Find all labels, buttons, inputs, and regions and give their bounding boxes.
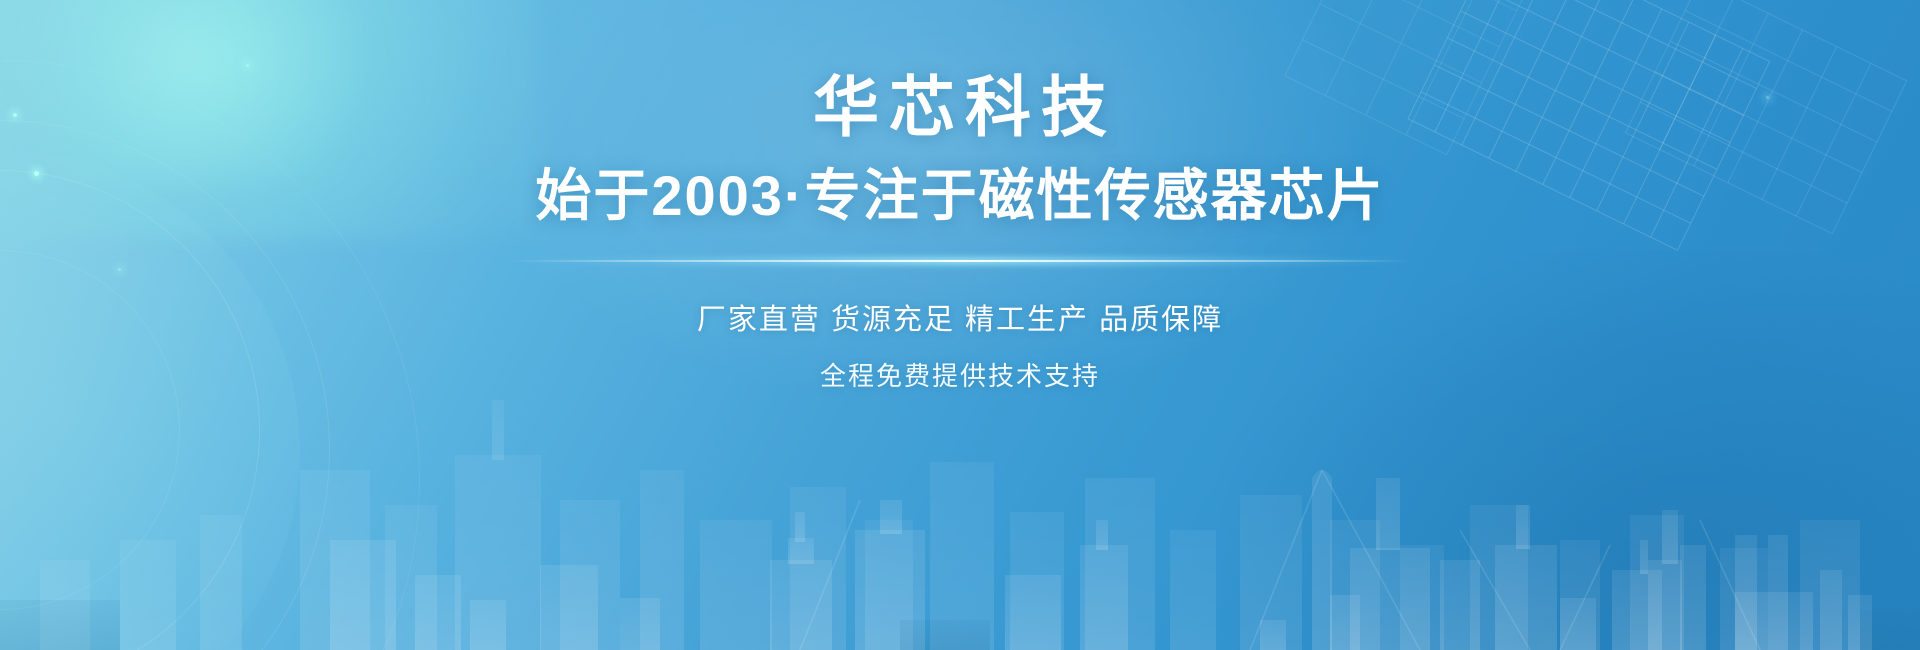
divider-line bbox=[510, 260, 1410, 262]
banner-content: 华芯科技 始于2003·专注于磁性传感器芯片 厂家直营 货源充足 精工生产 品质… bbox=[0, 0, 1920, 650]
glow-divider bbox=[510, 248, 1410, 274]
banner-subtitle: 始于2003·专注于磁性传感器芯片 bbox=[535, 166, 1384, 226]
page-title: 华芯科技 bbox=[803, 74, 1117, 140]
banner-support-text: 全程免费提供技术支持 bbox=[820, 356, 1100, 393]
banner-tagline: 厂家直营 货源充足 精工生产 品质保障 bbox=[697, 296, 1223, 338]
hero-banner: 华芯科技 始于2003·专注于磁性传感器芯片 厂家直营 货源充足 精工生产 品质… bbox=[0, 0, 1920, 650]
